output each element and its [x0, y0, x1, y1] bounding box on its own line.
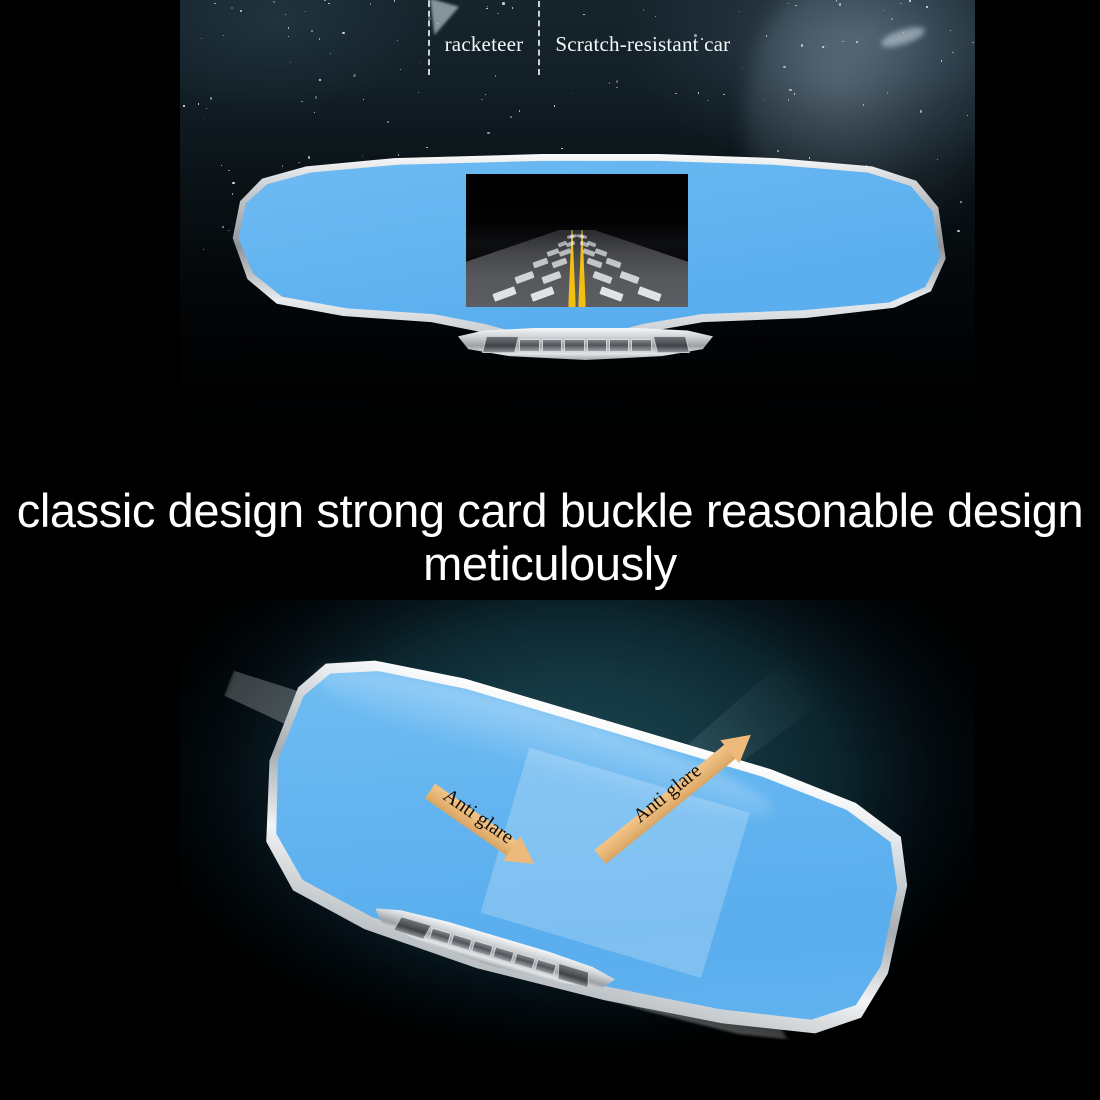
star-icon — [789, 89, 792, 92]
button-row[interactable] — [519, 339, 652, 352]
star-icon — [572, 93, 573, 94]
star-icon — [723, 94, 724, 95]
star-icon — [960, 201, 961, 202]
button-key[interactable] — [542, 339, 562, 352]
button-key[interactable] — [564, 339, 584, 352]
star-icon — [231, 7, 232, 8]
star-icon — [655, 16, 656, 17]
feature-label: Scratch-resistant car — [549, 32, 736, 57]
star-icon — [707, 100, 708, 101]
star-icon — [616, 87, 617, 88]
star-icon — [486, 8, 487, 9]
star-icon — [788, 3, 789, 4]
button-key[interactable] — [519, 339, 539, 352]
star-icon — [510, 116, 511, 117]
star-icon — [616, 80, 619, 83]
star-icon — [891, 18, 892, 19]
star-icon — [305, 11, 306, 12]
star-icon — [319, 79, 320, 80]
star-icon — [967, 115, 968, 116]
star-icon — [426, 147, 427, 148]
button-key[interactable] — [587, 339, 607, 352]
star-icon — [418, 92, 419, 93]
star-icon — [324, 0, 325, 1]
star-icon — [198, 103, 199, 104]
road-preview-screen — [466, 174, 688, 307]
star-icon — [561, 148, 562, 149]
star-icon — [739, 11, 740, 12]
star-icon — [183, 105, 184, 106]
star-icon — [363, 99, 364, 100]
star-icon — [788, 99, 789, 100]
star-icon — [487, 132, 490, 135]
star-icon — [836, 0, 837, 1]
star-icon — [675, 93, 676, 94]
star-icon — [920, 110, 923, 113]
star-icon — [909, 0, 910, 1]
star-icon — [502, 2, 505, 5]
star-icon — [957, 230, 960, 233]
star-icon — [497, 13, 498, 14]
star-icon — [206, 108, 207, 109]
star-icon — [698, 92, 699, 93]
star-icon — [203, 249, 204, 250]
star-icon — [764, 99, 765, 100]
star-icon — [839, 3, 842, 6]
star-icon — [794, 93, 795, 94]
star-icon — [400, 69, 401, 70]
control-button-strip[interactable] — [458, 328, 713, 360]
star-icon — [487, 6, 488, 7]
star-icon — [214, 3, 215, 4]
star-icon — [495, 75, 496, 76]
star-icon — [643, 9, 644, 10]
star-icon — [512, 7, 513, 8]
star-icon — [783, 66, 786, 69]
brand-label: racketeer — [439, 32, 530, 57]
star-icon — [742, 68, 743, 69]
divider-right — [538, 1, 540, 75]
star-icon — [900, 3, 901, 4]
star-icon — [370, 3, 371, 4]
button-wing-left[interactable] — [481, 336, 518, 353]
button-key[interactable] — [609, 339, 629, 352]
star-icon — [210, 97, 213, 100]
star-icon — [485, 94, 486, 95]
lower-section: Anti glare Anti glare — [180, 600, 975, 1100]
star-icon — [887, 92, 888, 93]
star-icon — [519, 110, 520, 111]
star-icon — [554, 105, 555, 106]
star-icon — [315, 96, 318, 99]
divider-left — [428, 1, 430, 75]
product-detail-page: racketeer Scratch-resistant car — [0, 0, 1100, 1100]
star-icon — [387, 121, 390, 124]
star-icon — [273, 1, 274, 2]
star-icon — [481, 99, 482, 100]
banner-label-row: racketeer Scratch-resistant car — [180, 22, 975, 66]
button-wing-right[interactable] — [653, 336, 690, 353]
star-icon — [795, 5, 796, 6]
star-icon — [240, 10, 241, 11]
button-key[interactable] — [631, 339, 651, 352]
star-icon — [328, 3, 329, 4]
star-icon — [301, 101, 302, 102]
star-icon — [353, 74, 356, 77]
headline-text: classic design strong card buckle reason… — [0, 485, 1100, 590]
star-icon — [926, 6, 927, 7]
mirror-top — [218, 152, 953, 357]
star-icon — [883, 10, 884, 11]
star-icon — [285, 14, 286, 15]
star-icon — [394, 0, 395, 1]
star-icon — [204, 118, 205, 119]
star-icon — [609, 82, 610, 83]
star-icon — [583, 14, 584, 15]
star-icon — [863, 104, 864, 105]
star-icon — [314, 112, 315, 113]
